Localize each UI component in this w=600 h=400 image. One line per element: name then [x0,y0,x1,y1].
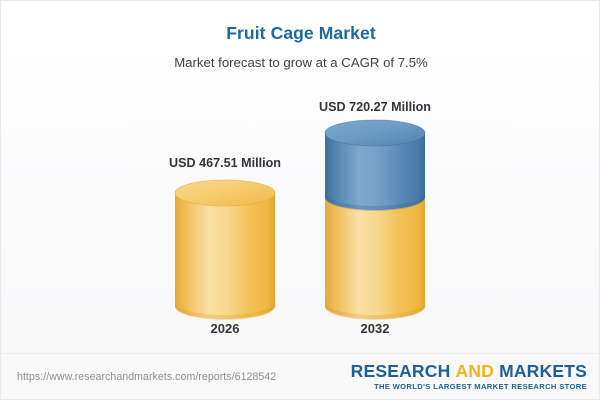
research-and-markets-logo[interactable]: RESEARCH AND MARKETS THE WORLD'S LARGEST… [351,362,587,391]
bar-value-label-2026: USD 467.51 Million [125,156,325,170]
logo-word-markets: MARKETS [499,361,587,381]
logo-word-and: AND [455,361,494,381]
logo-word-research: RESEARCH [351,361,451,381]
logo-tagline: THE WORLD'S LARGEST MARKET RESEARCH STOR… [351,382,587,391]
bar-cylinder-2032[interactable] [319,119,431,321]
bar-cylinder-2026[interactable] [169,179,281,321]
report-url[interactable]: https://www.researchandmarkets.com/repor… [17,371,276,383]
bar-value-label-2032: USD 720.27 Million [275,100,475,114]
footer: https://www.researchandmarkets.com/repor… [1,353,600,400]
axis-label-2032: 2032 [275,321,475,336]
logo-wordmark: RESEARCH AND MARKETS [351,362,587,380]
plot-area: USD 467.51 Million [1,1,600,353]
chart-card: Fruit Cage Market Market forecast to gro… [0,0,600,400]
